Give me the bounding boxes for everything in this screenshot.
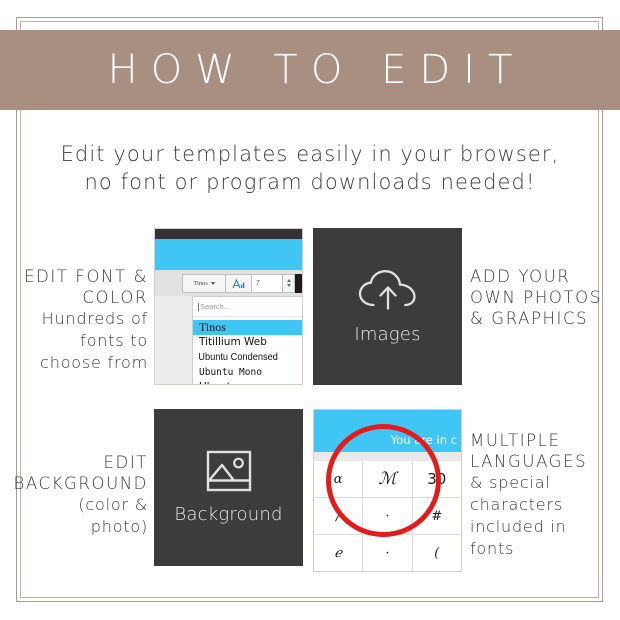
caption-sub-line: (color &: [12, 494, 148, 516]
caption-heading-line: EDIT FONT &: [14, 266, 148, 287]
app-titlebar: [155, 229, 302, 239]
caption-heading-line: COLOR: [14, 287, 148, 308]
glyph-cell[interactable]: /: [314, 498, 362, 534]
font-option-item[interactable]: Tinos: [193, 320, 303, 335]
stepper-down-icon: [287, 284, 291, 287]
tile-images-content: Images: [313, 228, 462, 385]
text-style-icon: [232, 278, 245, 289]
caption-heading-line: & GRAPHICS: [470, 308, 615, 329]
caption-edit-font-color: EDIT FONT & COLOR Hundreds of fonts to c…: [14, 266, 148, 374]
poster-root: HOW TO EDIT Edit your templates easily i…: [0, 0, 620, 620]
font-family-dropdown-panel: Search... Tinos Titillium Web Ubuntu Con…: [192, 296, 303, 384]
caption-heading-line: EDIT: [12, 452, 148, 473]
font-options-list: Tinos Titillium Web Ubuntu Condensed Ubu…: [193, 317, 303, 385]
tile-background-label: Background: [174, 504, 282, 525]
caption-heading-line: LANGUAGES: [470, 451, 618, 472]
font-search-placeholder: Search...: [200, 302, 230, 311]
glyph-cell[interactable]: (: [413, 535, 461, 571]
page-subtitle: Edit your templates easily in your brows…: [0, 140, 620, 196]
font-option-item[interactable]: Titillium Web: [193, 335, 303, 350]
font-size-input[interactable]: 7: [252, 274, 283, 293]
font-size-stepper[interactable]: [283, 274, 295, 293]
caption-heading-line: OWN PHOTOS: [470, 287, 615, 308]
image-placeholder-icon: [206, 450, 252, 492]
app-header-bar: You are in c: [314, 410, 461, 452]
font-family-dropdown-label: Tinos: [193, 280, 208, 287]
font-family-dropdown-button[interactable]: Tinos: [182, 274, 226, 293]
font-option-item[interactable]: Ubuntu Mono: [193, 365, 303, 380]
tile-images-label: Images: [354, 324, 420, 345]
caption-add-photos-graphics: ADD YOUR OWN PHOTOS & GRAPHICS: [470, 266, 615, 329]
text-style-button[interactable]: [226, 274, 252, 293]
toolbar-strip: [314, 452, 461, 461]
caption-heading-line: BACKGROUND: [12, 473, 148, 494]
canvas-left-pane: [155, 296, 192, 384]
caption-sub-line: characters: [470, 494, 618, 516]
caption-sub-line: photo): [12, 516, 148, 538]
font-toolbar: Tinos 7: [155, 270, 302, 296]
header-banner-text: You are in c: [391, 433, 457, 447]
font-search-input[interactable]: Search...: [193, 297, 303, 317]
glyph-cell[interactable]: 30: [413, 461, 461, 497]
font-toolbar-group: Tinos 7: [182, 274, 302, 293]
font-option-item[interactable]: Ubuntu Condensed: [193, 350, 290, 365]
screenshot-font-picker: Tinos 7: [154, 228, 303, 385]
caption-multiple-languages: MULTIPLE LANGUAGES & special characters …: [470, 430, 618, 560]
tile-background[interactable]: Background: [154, 409, 303, 566]
subtitle-line-1: Edit your templates easily in your brows…: [0, 140, 620, 168]
screenshot-glyph-panel: You are in c ɑ ℳ 30 / · # ℯ · (: [313, 409, 462, 572]
caption-heading-line: MULTIPLE: [470, 430, 618, 451]
caption-sub-line: fonts to: [14, 330, 148, 352]
glyph-cell[interactable]: ɑ: [314, 461, 362, 497]
caption-sub-line: choose from: [14, 352, 148, 374]
glyph-cell[interactable]: ℯ: [314, 535, 362, 571]
tile-background-content: Background: [154, 409, 303, 566]
text-cursor-icon: [198, 303, 199, 311]
tile-images[interactable]: Images: [313, 228, 462, 385]
stepper-up-icon: [287, 279, 291, 282]
scrollbar[interactable]: [295, 274, 302, 293]
header-band: HOW TO EDIT: [0, 30, 620, 110]
caption-sub-line: Hundreds of: [14, 308, 148, 330]
chevron-down-icon: [211, 282, 215, 285]
caption-edit-background: EDIT BACKGROUND (color & photo): [12, 452, 148, 538]
font-option-item[interactable]: Ubuntu: [193, 380, 303, 385]
subtitle-line-2: no font or program downloads needed!: [0, 168, 620, 196]
glyph-cell[interactable]: ·: [363, 498, 411, 534]
page-title: HOW TO EDIT: [95, 50, 526, 90]
caption-sub-line: & special: [470, 472, 618, 494]
glyph-cell[interactable]: ℳ: [363, 461, 411, 497]
glyph-cell[interactable]: ·: [363, 535, 411, 571]
cloud-upload-icon: [357, 268, 419, 312]
glyph-grid: ɑ ℳ 30 / · # ℯ · (: [314, 461, 461, 571]
caption-sub-line: included in: [470, 516, 618, 538]
caption-heading-line: ADD YOUR: [470, 266, 615, 287]
glyph-cell[interactable]: #: [413, 498, 461, 534]
app-header-bar: [155, 239, 302, 270]
caption-sub-line: fonts: [470, 538, 618, 560]
